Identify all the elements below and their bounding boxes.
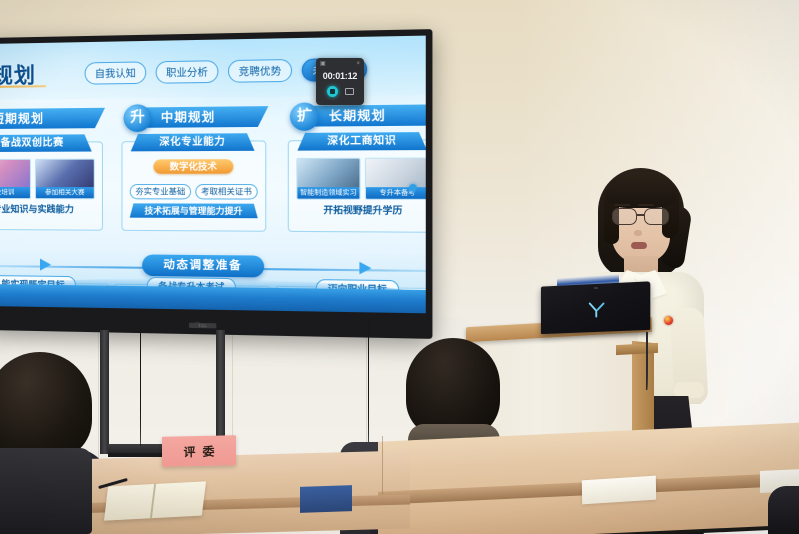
audience-center-head [406,338,500,438]
glasses-bridge [637,214,644,216]
card-long-term: 深化工商知识 智能制造领域实习 专升本备考 开拓视野提升学历 [288,139,426,232]
table-seam [382,436,383,494]
phase-label-3: 长期规划 [305,104,426,126]
papers-on-right-table [582,476,656,505]
stop-record-button[interactable] [327,86,338,97]
chair-left [0,448,92,534]
phase-header-2: 升 中期规划 [115,103,275,135]
slide-corner-dot [409,184,417,191]
thumbnail-image: 参加相关大赛 [35,159,95,200]
presenter-laptop[interactable] [540,284,650,334]
thumbnail-caption: 参加相关大赛 [36,187,94,198]
column-short-term: 稳 短期规划 备战双创比赛 创业培训 参加相关大赛 [0,105,109,231]
presenter-mouth [631,242,647,249]
clipboard [300,485,352,513]
column-long-term: 扩 长期规划 深化工商知识 智能制造领域实习 专升本备考 [281,101,425,233]
card-footer-1: 专业知识与实践能力 [0,202,95,217]
card-footer-2: 技术拓展与管理能力提升 [130,203,258,218]
presenter-glasses [609,208,673,226]
sub-pills-2: 夯实专业基础 考取相关证书 [130,184,258,200]
glasses-lens-left [612,208,637,225]
minimize-icon[interactable]: ▣ [320,61,326,67]
slide-three-columns: 稳 短期规划 备战双创比赛 创业培训 参加相关大赛 [0,101,426,260]
presenter-hair-front [606,172,676,208]
glasses-lens-right [644,208,669,225]
audience-left-head [0,352,92,460]
sub-pill-certificates: 考取相关证书 [195,184,257,200]
sub-pill-foundation: 夯实专业基础 [130,184,191,199]
card-footer-3: 开拓视野提升学历 [296,203,425,218]
laptop-power-cable [646,332,648,390]
thumbs-1: 创业培训 参加相关大赛 [0,159,95,200]
card-title-3: 深化工商知识 [297,132,425,151]
band-arrow-left-icon [40,259,51,271]
notebook-spine [150,484,156,518]
open-notebook [104,481,206,520]
phase-label-1: 短期规划 [0,108,105,129]
card-title-1: 备战双创比赛 [0,134,92,152]
judge-name-card-text: 评委 [162,442,236,461]
close-icon[interactable]: × [356,61,360,67]
card-short-term: 备战双创比赛 创业培训 参加相关大赛 专业知识与实践能力 [0,141,103,230]
judge-name-card: 评委 [162,435,236,467]
presentation-room-scene: 来规划 自我认知 职业分析 竞聘优势 未来规划 稳 短期规划 [0,0,799,534]
thumbnail-image: 智能制造领域实习 [296,158,360,200]
phase-header-3: 扩 长期规划 [281,101,425,134]
phase-label-2: 中期规划 [138,106,268,128]
phase-header-1: 稳 短期规划 [0,105,109,136]
thumbnail-image: 创业培训 [0,159,31,199]
card-mid-term: 深化专业能力 数字化技术 夯实专业基础 考取相关证书 技术拓展与管理能力提升 [121,140,266,231]
recording-timer: 00:01:12 [316,71,364,81]
phase-badge-3: 扩 [290,102,319,130]
laptop-camera-icon [594,287,598,289]
nav-pill-self-awareness[interactable]: 自我认知 [85,61,147,84]
nav-pill-career-analysis[interactable]: 职业分析 [156,60,219,84]
wall-display-tv: 来规划 自我认知 职业分析 竞聘优势 未来规划 稳 短期规划 [0,29,432,339]
highlight-chip-digital-tech: 数字化技术 [154,159,234,174]
camera-icon[interactable] [345,88,354,95]
screen-recording-overlay[interactable]: ▣ × 00:01:12 [316,58,364,105]
presenter-eyebrow-right [638,204,654,206]
band-arrow-right-icon [359,262,371,275]
foreground-person-right [768,486,799,534]
presenter-eyebrow-left [614,204,630,206]
nav-pill-competitive-advantage[interactable]: 竞聘优势 [228,59,292,83]
thumbnail-caption: 专升本备考 [366,187,426,199]
tv-brand-logo: TCL [189,323,216,329]
presenter-sleeve-cuff [674,382,704,398]
presenter-nose [634,230,642,236]
thumbs-3: 智能制造领域实习 专升本备考 [296,157,425,199]
legion-y-logo [588,302,606,318]
tv-power-cable [140,326,141,446]
card-title-2: 深化专业能力 [131,133,255,151]
thumbnail-caption: 智能制造领域实习 [297,187,359,199]
thumbnail-caption: 创业培训 [0,187,30,198]
band-label: 动态调整准备 [142,254,264,277]
presenter-badge-pin [664,316,673,325]
column-mid-term: 升 中期规划 深化专业能力 数字化技术 夯实专业基础 考取相关证书 技术拓展与管… [115,103,275,232]
thumbnail-image: 专升本备考 [365,157,426,199]
slide-bottom-strip [0,284,426,313]
phase-badge-2: 升 [124,104,152,132]
